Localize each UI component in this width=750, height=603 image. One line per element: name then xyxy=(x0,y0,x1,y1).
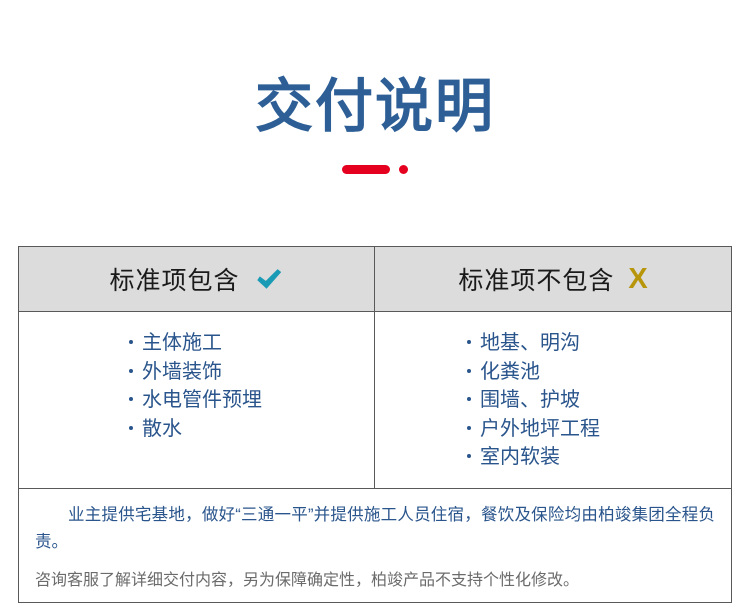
bullet-icon xyxy=(129,369,133,373)
list-item: 室内软装 xyxy=(467,443,731,472)
table-header-included-label: 标准项包含 xyxy=(109,261,239,297)
check-icon xyxy=(254,264,284,294)
list-item: 外墙装饰 xyxy=(129,358,374,387)
list-item-label: 围墙、护坡 xyxy=(480,386,580,415)
list-item: 化粪池 xyxy=(467,358,731,387)
notes-section: 业主提供宅基地，做好“三通一平”并提供施工人员住宿，餐饮及保险均由柏竣集团全程负… xyxy=(19,489,731,602)
table-header-included: 标准项包含 xyxy=(19,247,375,311)
table-header-row: 标准项包含 标准项不包含 X xyxy=(19,247,731,312)
included-cell: 主体施工 外墙装饰 水电管件预埋 散水 xyxy=(19,312,375,488)
table-header-excluded: 标准项不包含 X xyxy=(375,247,731,311)
list-item-label: 主体施工 xyxy=(142,329,222,358)
list-item: 户外地坪工程 xyxy=(467,415,731,444)
bullet-icon xyxy=(467,454,471,458)
delivery-instructions-page: 交付说明 标准项包含 标准项不包含 X xyxy=(0,0,750,597)
list-item: 散水 xyxy=(129,415,374,444)
title-divider xyxy=(0,162,750,176)
note-primary: 业主提供宅基地，做好“三通一平”并提供施工人员住宿，餐饮及保险均由柏竣集团全程负… xyxy=(35,502,715,555)
excluded-list: 地基、明沟 化粪池 围墙、护坡 户外地坪工程 xyxy=(375,329,731,472)
list-item: 水电管件预埋 xyxy=(129,386,374,415)
bullet-icon xyxy=(129,426,133,430)
divider-bar-icon xyxy=(342,165,390,174)
page-title: 交付说明 xyxy=(0,78,750,136)
note-secondary: 咨询客服了解详细交付内容，另为保障确定性，柏竣产品不支持个性化修改。 xyxy=(35,569,715,593)
excluded-cell: 地基、明沟 化粪池 围墙、护坡 户外地坪工程 xyxy=(375,312,731,488)
bullet-icon xyxy=(467,369,471,373)
list-item: 地基、明沟 xyxy=(467,329,731,358)
list-item: 围墙、护坡 xyxy=(467,386,731,415)
divider-dot-icon xyxy=(399,165,408,174)
bullet-icon xyxy=(467,340,471,344)
included-list: 主体施工 外墙装饰 水电管件预埋 散水 xyxy=(19,329,374,443)
list-item-label: 散水 xyxy=(142,415,182,444)
bullet-icon xyxy=(129,340,133,344)
table-body-row: 主体施工 外墙装饰 水电管件预埋 散水 xyxy=(19,312,731,489)
list-item-label: 户外地坪工程 xyxy=(480,415,600,444)
bullet-icon xyxy=(467,426,471,430)
title-block: 交付说明 xyxy=(0,0,750,176)
list-item-label: 室内软装 xyxy=(480,443,560,472)
table-header-excluded-label: 标准项不包含 xyxy=(458,261,614,297)
list-item: 主体施工 xyxy=(129,329,374,358)
list-item-label: 外墙装饰 xyxy=(142,358,222,387)
bullet-icon xyxy=(129,397,133,401)
bullet-icon xyxy=(467,397,471,401)
comparison-table: 标准项包含 标准项不包含 X 主体施工 xyxy=(18,246,732,603)
x-icon: X xyxy=(628,265,647,294)
list-item-label: 地基、明沟 xyxy=(480,329,580,358)
list-item-label: 化粪池 xyxy=(480,358,540,387)
list-item-label: 水电管件预埋 xyxy=(142,386,262,415)
